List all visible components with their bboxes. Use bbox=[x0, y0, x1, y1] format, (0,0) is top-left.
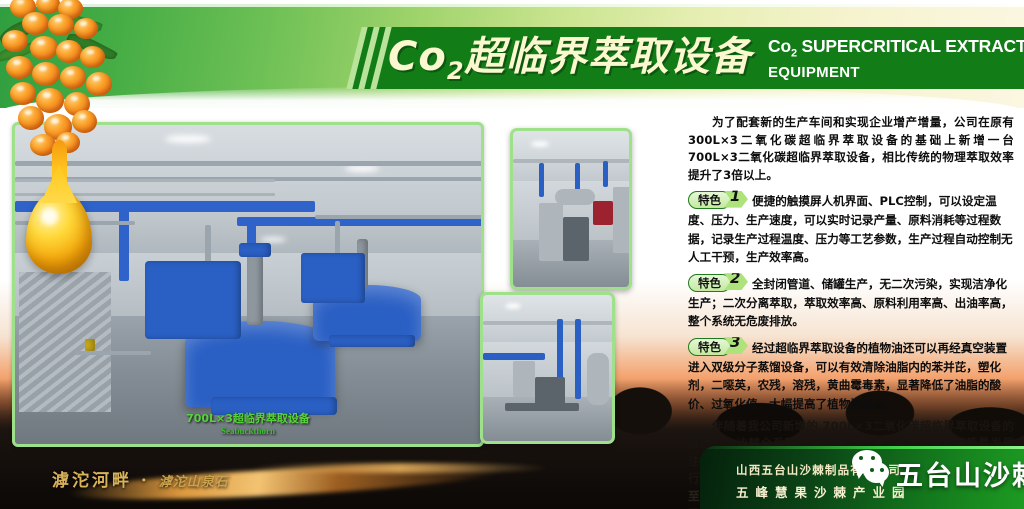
equipment-photo-upper bbox=[510, 128, 632, 290]
calligraphy-text: 滹沱河畔 bbox=[52, 471, 132, 491]
wechat-eye bbox=[870, 468, 874, 472]
red-equipment bbox=[593, 201, 613, 225]
floor-pipe bbox=[75, 351, 151, 355]
ceiling-light bbox=[345, 165, 379, 172]
berry bbox=[32, 62, 60, 86]
ceiling-light bbox=[165, 135, 211, 143]
blue-pipe bbox=[539, 163, 544, 197]
badge-label: 特色 bbox=[688, 274, 731, 292]
process-pipe bbox=[315, 215, 484, 219]
berry bbox=[48, 14, 74, 36]
seabuckthorn-berries-graphic bbox=[0, 0, 146, 174]
page-title-en: Co2 SUPERCRITICAL EXTRACTION EQUIPMENT bbox=[768, 37, 1018, 82]
cabinet bbox=[613, 187, 631, 253]
berry bbox=[6, 56, 33, 79]
river-reflection-secondary bbox=[250, 463, 550, 473]
title-en-line2: EQUIPMENT bbox=[768, 64, 1018, 82]
brand-block: 山西五台山沙棘制品有限公司 五峰慧果沙棘产业园 五台山沙棘 bbox=[700, 446, 1024, 509]
wechat-icon bbox=[848, 448, 892, 486]
feature-badge-3: 特色3 bbox=[688, 338, 748, 356]
berry bbox=[2, 30, 28, 52]
feature-item-2: 特色2全封闭管道、储罐生产，无二次污染，实现洁净化生产；二次分离萃取，萃取效率高… bbox=[688, 275, 1014, 331]
blue-beam bbox=[483, 353, 545, 360]
photo-ceiling bbox=[483, 295, 612, 342]
title-co-text: Co bbox=[388, 34, 447, 80]
berry bbox=[60, 66, 86, 89]
tank-unit bbox=[513, 361, 535, 397]
berry bbox=[72, 110, 97, 133]
calligraphy-separator: · bbox=[141, 471, 150, 491]
badge-label: 特色 bbox=[688, 338, 731, 356]
poster-root: Co2超临界萃取设备 Co2 SUPERCRITICAL EXTRACTION … bbox=[0, 0, 1024, 509]
title-en-main: SUPERCRITICAL EXTRACTION bbox=[797, 36, 1024, 56]
brand-name-large: 五台山沙棘 bbox=[896, 454, 1024, 493]
caption-cn: 700L×3超临界萃取设备 bbox=[15, 410, 481, 426]
valve-handle bbox=[85, 339, 95, 351]
berry bbox=[86, 72, 112, 96]
badge-number: 3 bbox=[730, 334, 740, 351]
photo-ceiling bbox=[513, 131, 629, 181]
machine-unit bbox=[563, 217, 589, 261]
top-edge-strip bbox=[0, 0, 1024, 4]
berry bbox=[74, 18, 98, 39]
feature-item-1: 特色1便捷的触摸屏人机界面、PLC控制，可以设定温度、压力、生产速度，可以实时记… bbox=[688, 192, 1014, 267]
staircase bbox=[19, 272, 111, 412]
wechat-eye bbox=[859, 456, 863, 460]
blue-pipe bbox=[603, 161, 608, 187]
page-title-cn: Co2超临界萃取设备 bbox=[388, 28, 752, 100]
feature-badge-1: 特色1 bbox=[688, 191, 748, 209]
feature-item-3: 特色3经过超临界萃取设备的植物油还可以再经真空装置进入双级分子蒸馏设备，可以有效… bbox=[688, 339, 1014, 414]
berry bbox=[22, 12, 49, 35]
caption-en: Seabuckthorn bbox=[15, 426, 481, 436]
ceiling-light bbox=[531, 141, 549, 147]
vessel-body bbox=[145, 261, 241, 339]
title-co-subscript: 2 bbox=[447, 57, 465, 85]
vessel-cap bbox=[239, 243, 271, 257]
ceiling-light bbox=[505, 303, 521, 309]
berry bbox=[30, 36, 58, 60]
vertical-tank bbox=[587, 353, 609, 405]
title-cn-main: 超临界萃取设备 bbox=[465, 34, 752, 80]
berry bbox=[80, 46, 105, 68]
ceiling-light bbox=[260, 237, 286, 242]
feature-badge-2: 特色2 bbox=[688, 274, 748, 292]
control-panel bbox=[539, 203, 563, 261]
main-photo-caption: 700L×3超临界萃取设备 Seabuckthorn bbox=[15, 410, 481, 436]
vessel-base bbox=[329, 335, 415, 347]
ceiling-pipe bbox=[483, 321, 615, 325]
title-en-line1: Co2 SUPERCRITICAL EXTRACTION bbox=[768, 37, 1018, 64]
badge-number: 2 bbox=[730, 270, 740, 287]
calligraphy-seal: 滹沱山泉石 bbox=[159, 475, 229, 490]
intro-paragraph: 为了配套新的生产车间和实现企业增产增量，公司在原有300L×3二氧化碳超临界萃取… bbox=[688, 114, 1014, 184]
wechat-eye bbox=[880, 468, 884, 472]
berry bbox=[18, 106, 44, 130]
vessel-body bbox=[301, 253, 365, 303]
badge-number: 1 bbox=[730, 188, 740, 205]
machine-base bbox=[505, 403, 579, 411]
blue-column bbox=[119, 201, 129, 281]
badge-label: 特色 bbox=[688, 191, 731, 209]
berry bbox=[10, 82, 36, 105]
blue-pipe bbox=[575, 319, 581, 399]
ceiling-pipe bbox=[513, 159, 632, 163]
vessel-piston bbox=[247, 251, 263, 325]
berry bbox=[56, 40, 82, 63]
wechat-bubble-small bbox=[864, 462, 889, 483]
equipment-photo-lower bbox=[480, 292, 615, 444]
title-en-co: Co bbox=[768, 36, 791, 56]
calligraphy-caption: 滹沱河畔 · 滹沱山泉石 bbox=[52, 466, 229, 491]
wechat-eye bbox=[871, 456, 875, 460]
